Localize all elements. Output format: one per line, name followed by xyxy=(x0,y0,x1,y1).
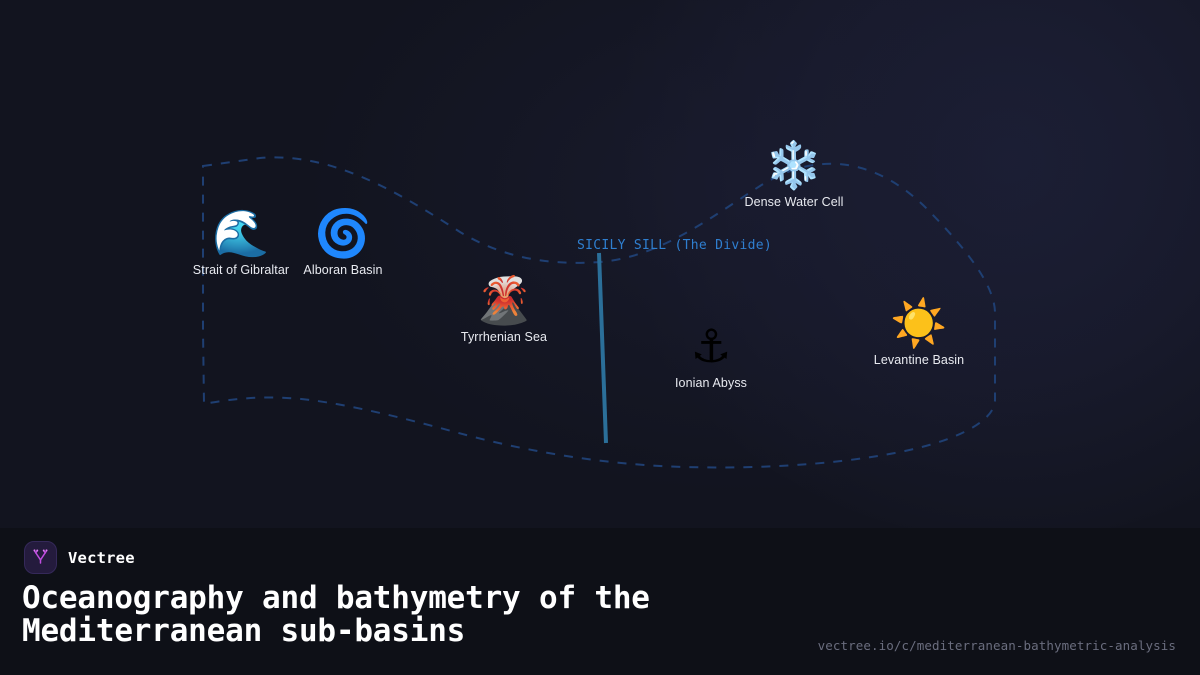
basin-node-label: Alboran Basin xyxy=(303,263,382,277)
basin-node-label: Tyrrhenian Sea xyxy=(461,330,547,344)
basin-node-label: Strait of Gibraltar xyxy=(193,263,289,277)
cyclone-emoji: 🌀 xyxy=(314,205,371,261)
snowflake-emoji: ❄️ xyxy=(765,137,822,193)
vectree-glyph-icon xyxy=(31,548,50,567)
footer-url: vectree.io/c/mediterranean-bathymetric-a… xyxy=(818,638,1176,653)
anchor-emoji: ⚓ xyxy=(690,318,731,374)
slide-canvas: SICILY SILL (The Divide) 🌊Strait of Gibr… xyxy=(0,0,1200,675)
footer-bar: Vectree Oceanography and bathymetry of t… xyxy=(0,528,1200,675)
brand-name: Vectree xyxy=(68,549,135,567)
sicily-sill-label: SICILY SILL (The Divide) xyxy=(577,238,772,253)
basin-node-tyrrhenian-sea[interactable]: 🌋Tyrrhenian Sea xyxy=(461,272,547,344)
basin-node-dense-water-cell[interactable]: ❄️Dense Water Cell xyxy=(744,137,843,209)
volcano-emoji: 🌋 xyxy=(475,272,532,328)
basin-node-label: Ionian Abyss xyxy=(675,376,747,390)
vectree-tree-logo-icon xyxy=(24,541,57,574)
basin-node-label: Dense Water Cell xyxy=(744,195,843,209)
basin-node-label: Levantine Basin xyxy=(874,353,964,367)
basin-node-alboran-basin[interactable]: 🌀Alboran Basin xyxy=(303,205,382,277)
water-wave-emoji: 🌊 xyxy=(212,205,269,261)
basin-node-strait-of-gibraltar[interactable]: 🌊Strait of Gibraltar xyxy=(193,205,289,277)
page-title: Oceanography and bathymetry of the Medit… xyxy=(22,582,822,649)
basin-node-levantine-basin[interactable]: ☀️Levantine Basin xyxy=(874,295,964,367)
sun-emoji: ☀️ xyxy=(890,295,947,351)
brand-block: Vectree xyxy=(24,541,135,574)
sicily-sill-divider-line xyxy=(599,253,606,443)
basin-node-ionian-abyss[interactable]: ⚓Ionian Abyss xyxy=(675,318,747,390)
